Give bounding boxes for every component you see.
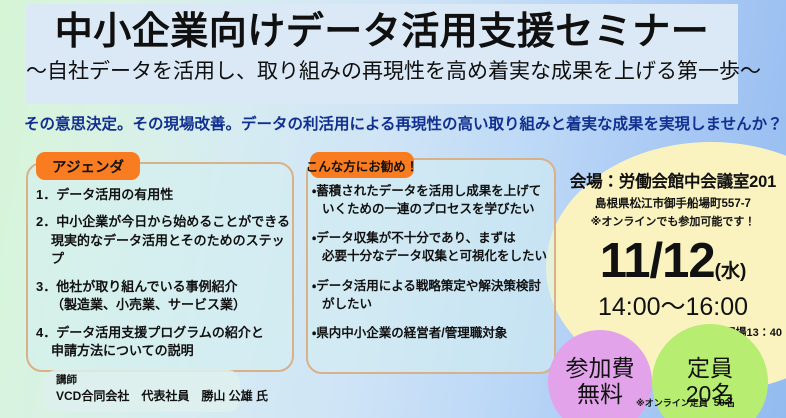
seminar-flyer: 中小企業向けデータ活用支援セミナー 〜自社データを活用し、取り組みの再現性を高め… (0, 0, 786, 418)
page-title: 中小企業向けデータ活用支援セミナー (26, 4, 738, 55)
audience-item-sub: いくための一連のプロセスを学びたい (312, 200, 556, 218)
audience-tab-label: こんな方にお勧め！ (310, 152, 414, 178)
online-capacity-note: ※オンライン定員50名 (636, 394, 786, 409)
online-capacity-label: ※オンライン定員 (636, 398, 708, 408)
audience-item-main: ・データ収集が不十分であり、まずは (312, 231, 516, 245)
audience-item-main: ・県内中小企業の経営者/管理職対象 (312, 326, 507, 340)
list-item: 1．データ活用の有用性 (36, 186, 292, 204)
event-date-line: 11/12(水) (560, 233, 786, 289)
tagline: その意思決定。その現場改善。データの利活用による再現性の高い取り組みと着実な成果… (24, 112, 764, 134)
event-info: 会場：労働会館中会議室201 島根県松江市御手船場町557-7 ※オンラインでも… (560, 168, 786, 340)
agenda-item-sub: 現実的なデータ活用とそのためのステップ (36, 232, 292, 269)
agenda-tab-label: アジェンダ (36, 152, 140, 180)
agenda-item-main: 1．データ活用の有用性 (36, 187, 173, 202)
lecturer-label: 講師 (56, 374, 240, 388)
list-item: ・データ活用による戦略策定や解決策検討 がしたい (312, 277, 556, 313)
lecturer-box: 講師 VCD合同会社 代表社員 勝山 公雄 氏 (44, 370, 240, 412)
list-item: ・県内中小企業の経営者/管理職対象 (312, 324, 556, 342)
audience-item-main: ・蓄積されたデータを活用し成果を上げて (312, 184, 541, 198)
audience-item-main: ・データ活用による戦略策定や解決策検討 (312, 279, 541, 293)
event-date: 11/12 (600, 234, 715, 288)
list-item: ・蓄積されたデータを活用し成果を上げて いくための一連のプロセスを学びたい (312, 182, 556, 218)
audience-item-sub: 必要十分なデータ収集と可視化をしたい (312, 247, 556, 265)
list-item: 4．データ活用支援プログラムの紹介と 申請方法についての説明 (36, 324, 292, 361)
header-band: 中小企業向けデータ活用支援セミナー 〜自社データを活用し、取り組みの再現性を高め… (26, 4, 738, 104)
agenda-list: 1．データ活用の有用性 2．中小企業が今日から始めることができる 現実的なデータ… (36, 186, 292, 370)
venue-address: 島根県松江市御手船場町557-7 (560, 195, 786, 211)
agenda-item-main: 2．中小企業が今日から始めることができる (36, 214, 290, 229)
audience-item-sub: がしたい (312, 295, 556, 313)
list-item: 3．他社が取り組んでいる事例紹介 （製造業、小売業、サービス業） (36, 278, 292, 315)
fee-value: 無料 (577, 382, 623, 408)
audience-list: ・蓄積されたデータを活用し成果を上げて いくための一連のプロセスを学びたい ・デ… (312, 182, 556, 353)
page-subtitle: 〜自社データを活用し、取り組みの再現性を高め着実な成果を上げる第一歩〜 (26, 55, 738, 84)
event-time: 14:00〜16:00 (560, 287, 786, 323)
list-item: 2．中小企業が今日から始めることができる 現実的なデータ活用とそのためのステップ (36, 213, 292, 268)
list-item: ・データ収集が不十分であり、まずは 必要十分なデータ収集と可視化をしたい (312, 229, 556, 265)
agenda-item-main: 3．他社が取り組んでいる事例紹介 (36, 279, 238, 294)
event-day-of-week: (水) (715, 261, 747, 282)
online-available-note: ※オンラインでも参加可能です！ (560, 213, 786, 229)
agenda-item-sub: 申請方法についての説明 (36, 342, 292, 360)
fee-label: 参加費 (566, 356, 635, 382)
online-capacity-value: 50名 (714, 398, 735, 409)
venue-name: 会場：労働会館中会議室201 (560, 168, 786, 192)
agenda-item-main: 4．データ活用支援プログラムの紹介と (36, 325, 264, 340)
agenda-item-sub: （製造業、小売業、サービス業） (36, 296, 292, 314)
capacity-label: 定員 (687, 356, 733, 382)
lecturer-name: VCD合同会社 代表社員 勝山 公雄 氏 (56, 388, 240, 405)
